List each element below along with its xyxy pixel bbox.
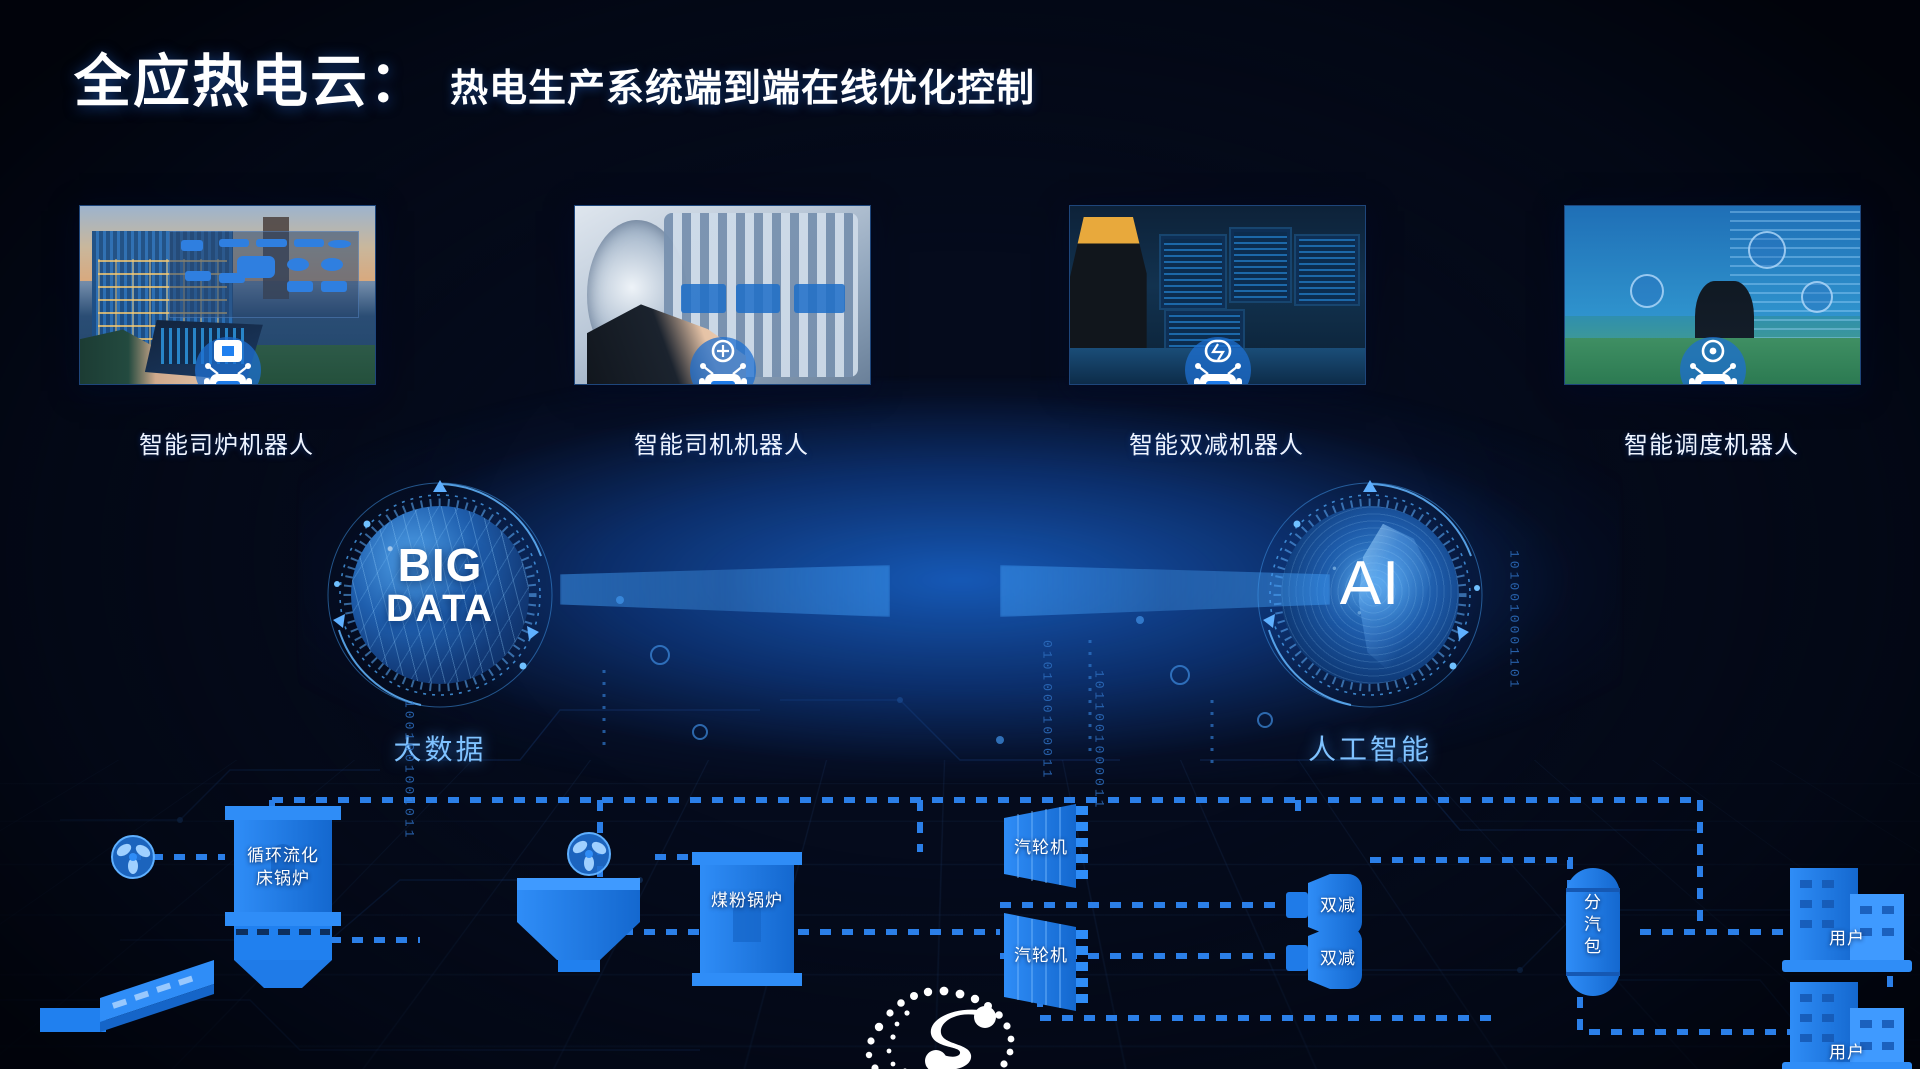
card-image-dispatch <box>1564 205 1861 385</box>
card-label-reducer: 智能双减机器人 <box>1069 425 1364 460</box>
robot-card-row: 智能司炉机器人 <box>0 205 1920 470</box>
binary-stream-3: 1011001000011 <box>1090 670 1108 900</box>
user-building-lower <box>1782 982 1912 1069</box>
blower-icon-1 <box>112 836 154 878</box>
pc-boiler-shape <box>692 852 802 986</box>
reducer-robot-icon <box>1182 334 1254 385</box>
binary-stream-4: 1010010001101 <box>1505 550 1523 800</box>
page-subtitle: 热电生产系统端到端在线优化控制 <box>450 57 1035 112</box>
card-image-control-room <box>1069 205 1366 385</box>
blower-icon-2 <box>568 833 610 875</box>
robot-card-reducer[interactable]: 智能双减机器人 <box>1069 205 1364 460</box>
card-label-dispatch: 智能调度机器人 <box>1564 425 1859 460</box>
page-title: 全应热电云： <box>74 36 428 118</box>
steam-drum-shape <box>1566 868 1620 996</box>
robot-card-boiler[interactable]: 智能司炉机器人 <box>79 205 374 460</box>
card-label-boiler: 智能司炉机器人 <box>79 425 374 460</box>
user-building-upper <box>1782 868 1912 972</box>
robot-card-dispatch[interactable]: 智能调度机器人 <box>1564 205 1859 460</box>
coal-hopper-shape <box>517 878 640 972</box>
binary-stream-2: 0101000100011 <box>1038 640 1056 880</box>
cfb-boiler-shape <box>225 806 341 988</box>
coal-conveyor <box>40 960 214 1032</box>
reducer-upper-shape <box>1286 874 1362 936</box>
robot-card-turbine[interactable]: 智能司机机器人 <box>574 205 869 460</box>
slide-canvas: 全应热电云： 热电生产系统端到端在线优化控制 <box>0 0 1920 1069</box>
card-image-turbine <box>574 205 871 385</box>
boiler-robot-icon <box>192 334 264 385</box>
tech-deco-dots <box>0 470 1920 770</box>
card-image-boiler <box>79 205 376 385</box>
page-header: 全应热电云： 热电生产系统端到端在线优化控制 <box>74 36 1035 118</box>
process-graphics <box>0 760 1920 1069</box>
reducer-lower-shape <box>1286 927 1362 989</box>
tech-band: BIG DATA 大数据 AI 人工智能 <box>0 470 1920 770</box>
card-label-turbine: 智能司机机器人 <box>574 425 869 460</box>
turbine-lower-shape <box>1004 913 1088 1011</box>
process-diagram: 1001001001011 0101000100011 101100100001… <box>0 760 1920 1069</box>
dispatch-robot-icon <box>1677 334 1749 385</box>
binary-stream-1: 1001001001011 <box>400 700 418 950</box>
turbine-robot-icon <box>687 334 759 385</box>
